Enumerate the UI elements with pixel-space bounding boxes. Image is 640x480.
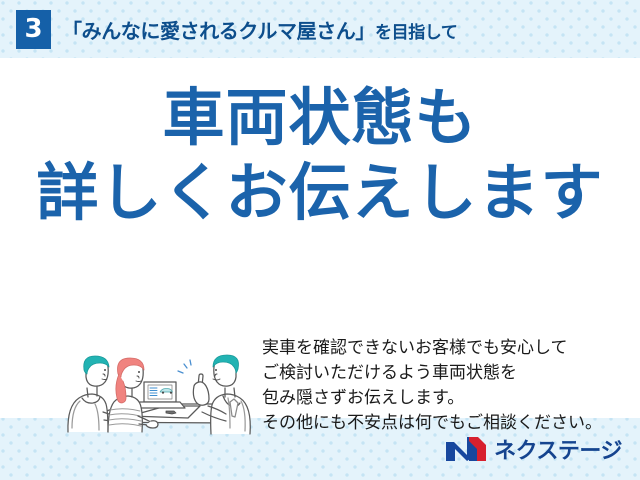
header-title: 「みんなに愛されるクルマ屋さん」 を目指して [62,15,458,44]
header-title-tail: を目指して [375,18,458,43]
headline: 車両状態も 詳しくお伝えします [0,86,640,224]
body-copy-line-3: 包み隠さずお伝えします。 [262,386,634,411]
headline-line-2: 詳しくお伝えします [0,161,640,224]
promo-banner: 3 「みんなに愛されるクルマ屋さん」 を目指して 車両状態も 詳しくお伝えします [0,0,640,480]
body-copy-line-1: 実車を確認できないお客様でも安心して [262,336,634,361]
lower-block: 実車を確認できないお客様でも安心して ご検討いただけるよう車両状態を 包み隠さず… [0,268,640,416]
section-number-badge: 3 [16,10,51,49]
header-title-main: 「みんなに愛されるクルマ屋さん」 [62,15,375,44]
brand-logo: ネクステージ [445,433,622,465]
body-copy-line-2: ご検討いただけるよう車両状態を [262,361,634,386]
banner-footer: ネクステージ [0,418,640,480]
content-card: 車両状態も 詳しくお伝えします [0,58,640,418]
brand-name: ネクステージ [494,433,622,465]
headline-line-1: 車両状態も [0,86,640,149]
banner-header: 3 「みんなに愛されるクルマ屋さん」 を目指して [0,0,640,58]
nextage-n-mark-icon [445,435,487,463]
